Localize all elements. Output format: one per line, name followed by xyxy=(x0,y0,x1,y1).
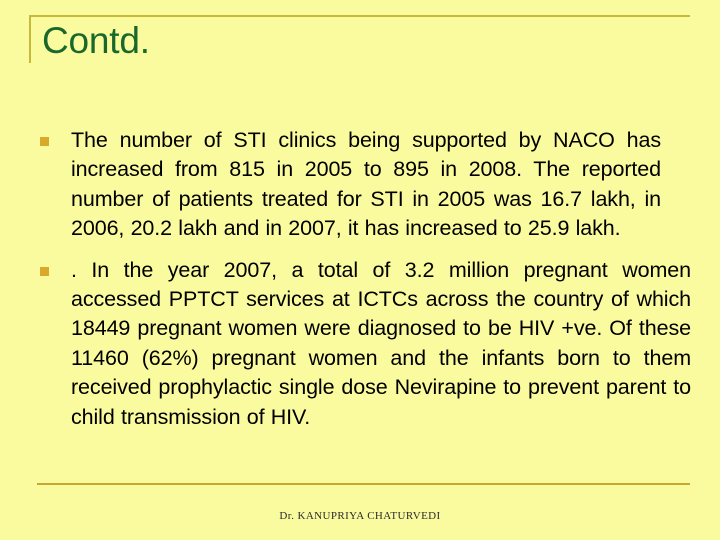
page-title: Contd. xyxy=(42,19,150,63)
list-item: The number of STI clinics being supporte… xyxy=(40,126,692,244)
footer-divider xyxy=(37,483,690,485)
slide-canvas: Contd. The number of STI clinics being s… xyxy=(0,0,720,540)
title-decoration-frame: Contd. xyxy=(29,15,690,63)
bullet-list: The number of STI clinics being supporte… xyxy=(40,126,692,444)
list-item: . In the year 2007, a total of 3.2 milli… xyxy=(40,256,692,432)
footer-author: Dr. KANUPRIYA CHATURVEDI xyxy=(0,509,720,523)
bullet-text: . In the year 2007, a total of 3.2 milli… xyxy=(71,256,691,432)
square-bullet-icon xyxy=(40,137,49,146)
square-bullet-icon xyxy=(40,267,49,276)
bullet-text: The number of STI clinics being supporte… xyxy=(71,126,661,244)
